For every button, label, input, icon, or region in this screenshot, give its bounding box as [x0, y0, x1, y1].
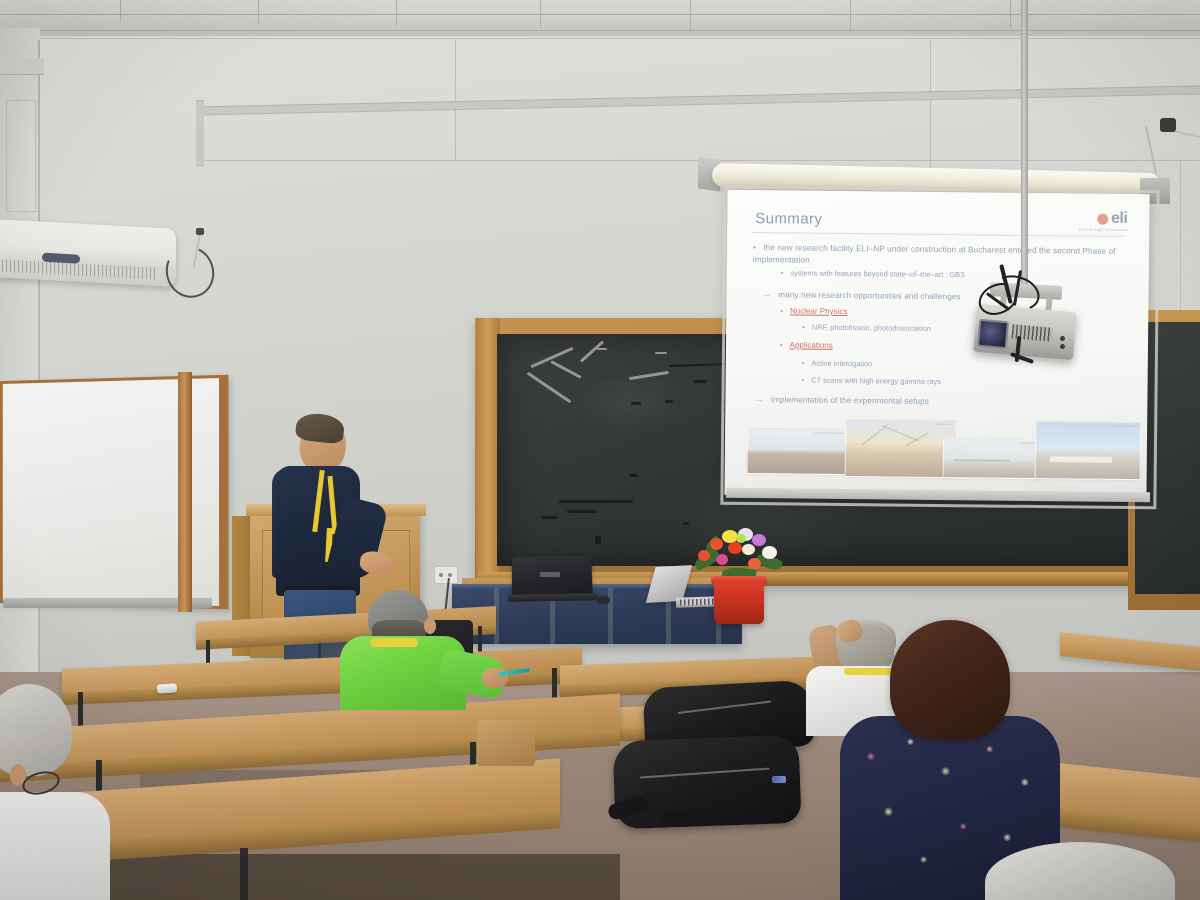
ceiling-tile-seam	[396, 0, 397, 26]
ceiling-tile-seam	[690, 0, 691, 30]
ear	[424, 618, 436, 634]
wall-socket	[1160, 118, 1176, 132]
ceiling-tile-seam	[0, 14, 1200, 15]
mobile-phone[interactable]	[157, 683, 178, 693]
outlet-socket-hole	[439, 573, 443, 577]
tablecloth-stripe	[608, 588, 613, 644]
ceiling-tile-seam	[120, 0, 121, 22]
attendee-floral-blouse-hair	[890, 620, 1010, 740]
chalk-erased-mark	[631, 402, 641, 405]
chalk-erased-mark	[683, 522, 689, 525]
projector-mount-pole	[1021, 0, 1028, 288]
chalk-mark	[597, 348, 607, 350]
wall-conduit-drop	[196, 100, 204, 166]
laptop-logo	[540, 572, 560, 577]
ceiling	[0, 0, 1200, 40]
projection-screen-border	[720, 186, 1159, 510]
flower	[728, 542, 742, 554]
chalk-erased-mark	[595, 536, 601, 544]
mouse[interactable]	[596, 596, 610, 604]
backpack-zipper	[640, 768, 770, 779]
desk-leg	[240, 848, 248, 900]
wall-outlet	[434, 566, 458, 584]
chalk-erased-mark	[567, 510, 597, 513]
attendee-foreground-left-torso	[0, 792, 110, 900]
backpack-zipper	[678, 701, 771, 714]
attendee-green-polo-lanyard	[370, 638, 418, 647]
ceiling-tile-seam	[1010, 0, 1011, 28]
wall-duct	[6, 100, 36, 212]
chalk-erased-mark	[629, 474, 637, 477]
chalk-erased-mark	[559, 500, 633, 503]
whiteboard	[0, 375, 228, 610]
flower	[736, 534, 746, 543]
attendee-white-shirt-lanyard	[844, 668, 896, 675]
wall-panel-seam	[930, 40, 931, 170]
flower	[710, 538, 723, 550]
flower	[748, 558, 761, 569]
flower	[762, 546, 777, 559]
wooden-post	[178, 372, 192, 612]
chalk-mark	[655, 352, 667, 354]
ceiling-beam	[0, 58, 44, 75]
flower	[716, 554, 728, 565]
wall-plug-icon	[196, 228, 204, 235]
chalk-erased-mark	[541, 516, 557, 519]
wall-panel-seam	[455, 40, 456, 160]
ceiling-tile-seam	[540, 0, 541, 28]
ceiling-tile-seam	[0, 30, 1200, 31]
air-conditioner	[0, 219, 176, 286]
chalk-erased-mark	[693, 380, 707, 383]
flower	[698, 550, 710, 561]
flower	[752, 534, 766, 546]
flower	[742, 544, 755, 555]
ac-display-panel	[42, 253, 80, 264]
chalk-erased-mark	[665, 400, 673, 403]
ceiling-tile-seam	[850, 0, 851, 30]
projector-lens	[977, 319, 1009, 350]
outlet-socket-hole	[448, 573, 452, 577]
ac-vent-louvers	[0, 259, 158, 279]
chair[interactable]	[477, 720, 535, 766]
wall-cornice	[0, 38, 1200, 39]
lecture-hall-photo: Summary eli Extreme Light Infrastructure…	[0, 0, 1200, 900]
flower-pot	[714, 580, 764, 624]
ceiling-tile-seam	[258, 0, 259, 24]
backpack-logo	[772, 776, 786, 783]
